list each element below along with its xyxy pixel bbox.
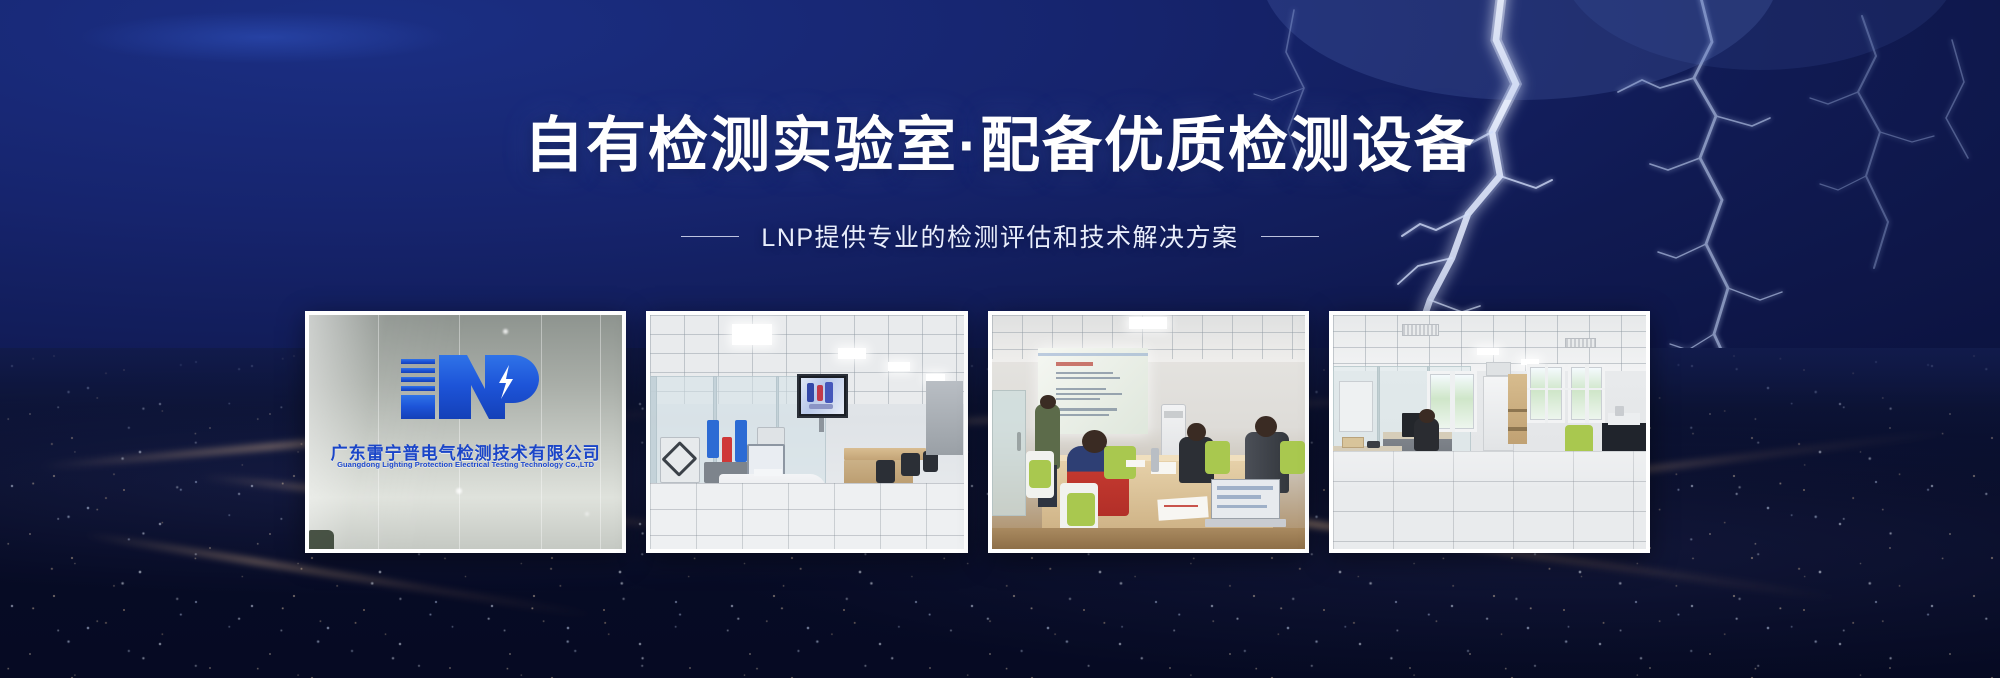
photo-meeting-room-image: [992, 315, 1305, 549]
ceiling-vent: [1402, 324, 1440, 336]
office-chair: [901, 453, 920, 476]
slide-text-line: [1056, 372, 1113, 374]
blue-insulator: [707, 420, 720, 457]
photo-laboratory[interactable]: [646, 311, 967, 553]
photo-meeting-room[interactable]: [988, 311, 1309, 553]
lab-floor: [650, 483, 963, 549]
headline-container: 自有检测实验室·配备优质检测设备: [0, 112, 2000, 179]
person-at-desk: [1414, 418, 1439, 451]
slide-heading: [1056, 362, 1093, 366]
shelf-divider: [1508, 427, 1527, 430]
person-head: [1419, 409, 1435, 423]
banner-subheadline: LNP提供专业的检测评估和技术解决方案: [761, 218, 1238, 254]
photo-laboratory-image: [650, 315, 963, 549]
meeting-chair-green: [1280, 441, 1305, 474]
meeting-chair-green: [1067, 493, 1095, 526]
shelf-divider: [1508, 409, 1527, 412]
slide-text-line: [1056, 414, 1109, 416]
desk-phone: [1367, 441, 1380, 448]
lab-wall-monitor: [797, 374, 847, 418]
lab-corridor: [926, 381, 964, 456]
wall-seam: [600, 315, 601, 549]
slide-text-line: [1056, 408, 1117, 410]
desk-box: [1342, 437, 1364, 449]
person-head: [1040, 395, 1056, 409]
meeting-floor: [992, 528, 1305, 549]
aircon-vent: [1164, 411, 1183, 418]
document-papers: [1157, 496, 1208, 520]
photo-strip: 广东雷宁普电气检测技术有限公司 Guangdong Lighting Prote…: [305, 311, 1650, 553]
laptop-base: [1205, 519, 1286, 527]
wall-seam: [541, 315, 542, 549]
screen-graphic: [807, 383, 814, 402]
document-line: [1164, 505, 1198, 508]
slide-text-line: [1056, 398, 1100, 400]
ceiling-panel-light: [838, 348, 866, 360]
red-insulator: [722, 437, 731, 465]
lab-equipment-behind-glass: [1339, 381, 1373, 432]
ceiling-panel-light: [1129, 317, 1167, 329]
ceiling-vent: [1565, 338, 1596, 347]
window-mullion: [1545, 364, 1549, 423]
subheadline-container: LNP提供专业的检测评估和技术解决方案: [0, 218, 2000, 254]
slide-text-line: [1056, 393, 1122, 395]
window-mullion: [1585, 364, 1589, 423]
wall-seam: [378, 315, 379, 549]
ceiling-panel-light: [732, 324, 773, 345]
wall-highlight: [585, 512, 589, 516]
meeting-door: [992, 390, 1026, 516]
photo-office[interactable]: [1329, 311, 1650, 553]
meeting-chair-green: [1205, 441, 1230, 474]
window-mullion: [1450, 371, 1454, 432]
counter-item: [1615, 406, 1624, 415]
slide-text-line: [1056, 377, 1120, 379]
lnp-logo-icon: [393, 345, 539, 436]
photo-logo-wall-image: 广东雷宁普电气检测技术有限公司 Guangdong Lighting Prote…: [309, 315, 622, 549]
document-papers: [1126, 460, 1145, 467]
banner-headline: 自有检测实验室·配备优质检测设备: [524, 112, 1476, 179]
meeting-chair-green: [1029, 460, 1051, 488]
ceiling-panel-light: [888, 362, 910, 371]
ceiling-panel-light: [1477, 348, 1499, 355]
lnp-logo-svg: [393, 345, 539, 431]
laptop-content-line: [1217, 486, 1273, 490]
thermos-cup: [1151, 448, 1159, 471]
shelf-divider: [1508, 390, 1527, 393]
hero-banner: 自有检测实验室·配备优质检测设备 LNP提供专业的检测评估和技术解决方案: [0, 0, 2000, 678]
office-chair: [876, 460, 895, 483]
photo-logo-wall[interactable]: 广东雷宁普电气检测技术有限公司 Guangdong Lighting Prote…: [305, 311, 626, 553]
slide-text-line: [1056, 388, 1106, 390]
person-head: [1255, 416, 1277, 437]
divider-dash-right: [1261, 236, 1319, 237]
laptop-content-line: [1217, 505, 1267, 509]
floor-sheen: [1333, 451, 1646, 549]
door-handle: [1017, 432, 1021, 451]
window-transom: [1527, 388, 1605, 391]
lobby-plant: [309, 530, 334, 549]
laptop-content-line: [1217, 495, 1261, 499]
lab-glass-mullion: [650, 376, 656, 488]
screen-graphic: [809, 404, 833, 409]
console-papers: [754, 469, 782, 476]
counter-top: [1608, 413, 1639, 425]
screen-graphic: [825, 382, 833, 403]
monitor-mount: [819, 418, 824, 432]
photo-office-image: [1333, 315, 1646, 549]
blue-insulator: [735, 420, 748, 462]
divider-dash-left: [681, 236, 739, 237]
logo-company-name-en: Guangdong Lighting Protection Electrical…: [309, 460, 622, 469]
lab-monitor-screen: [801, 378, 843, 414]
screen-graphic: [817, 385, 823, 401]
slide-window-bar: [1038, 353, 1148, 356]
ceiling-panel-light: [926, 374, 945, 381]
